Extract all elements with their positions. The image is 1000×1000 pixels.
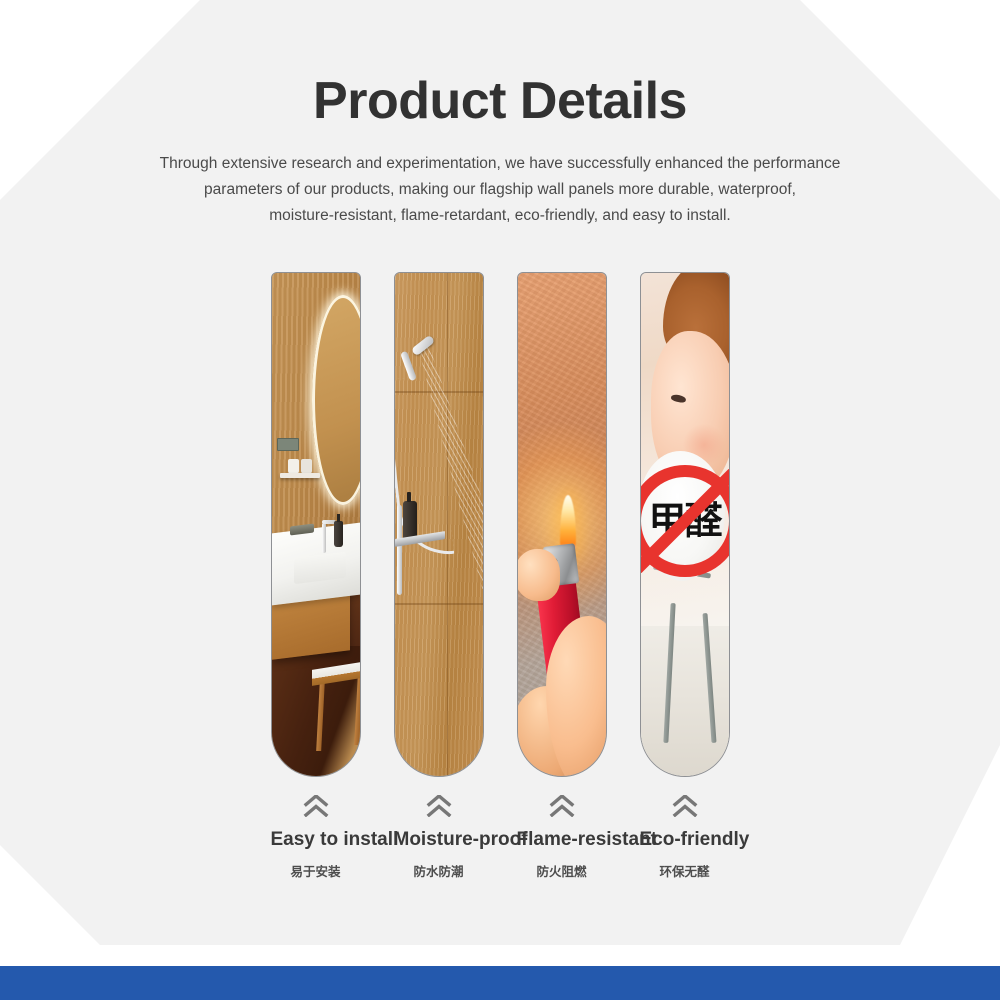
baby-photo: 甲醛	[641, 273, 729, 776]
feature-card-row: Easy to install 易于安装	[0, 272, 1000, 880]
no-formaldehyde-icon: 甲醛	[640, 465, 730, 577]
feature-image-card: 甲醛	[640, 272, 730, 777]
bathroom-vanity-photo	[272, 273, 360, 776]
shower-water-photo	[395, 273, 483, 776]
double-chevron-up-icon	[394, 795, 484, 817]
double-chevron-up-icon	[640, 795, 730, 817]
intro-line-2: parameters of our products, making our f…	[115, 177, 885, 203]
page-title: Product Details	[0, 74, 1000, 129]
intro-paragraph: Through extensive research and experimen…	[115, 151, 885, 229]
feature-label-en: Easy to install	[271, 829, 361, 852]
lighter-flame-photo	[518, 273, 606, 776]
feature-item-flame-resistant[interactable]: Flame-resistant 防火阻燃	[517, 272, 607, 880]
feature-label-en: Flame-resistant	[517, 829, 607, 852]
double-chevron-up-icon	[271, 795, 361, 817]
feature-caption: Easy to install 易于安装	[271, 795, 361, 880]
feature-label-zh: 环保无醛	[640, 861, 730, 880]
feature-caption: Flame-resistant 防火阻燃	[517, 795, 607, 880]
feature-caption: Eco-friendly 环保无醛	[640, 795, 730, 880]
feature-image-card	[271, 272, 361, 777]
double-chevron-up-icon	[517, 795, 607, 817]
feature-label-en: Eco-friendly	[640, 829, 730, 852]
header: Product Details Through extensive resear…	[0, 0, 1000, 229]
feature-image-card	[517, 272, 607, 777]
feature-image-card	[394, 272, 484, 777]
intro-line-1: Through extensive research and experimen…	[115, 151, 885, 177]
feature-label-en: Moisture-proof	[394, 829, 484, 852]
footer-bar	[0, 966, 1000, 1000]
feature-caption: Moisture-proof 防水防潮	[394, 795, 484, 880]
feature-label-zh: 易于安装	[271, 861, 361, 880]
feature-label-zh: 防火阻燃	[517, 861, 607, 880]
feature-item-easy-to-install[interactable]: Easy to install 易于安装	[271, 272, 361, 880]
feature-label-zh: 防水防潮	[394, 861, 484, 880]
intro-line-3: moisture-resistant, flame-retardant, eco…	[115, 203, 885, 229]
feature-item-moisture-proof[interactable]: Moisture-proof 防水防潮	[394, 272, 484, 880]
feature-item-eco-friendly[interactable]: 甲醛 Eco-friendly 环保无醛	[640, 272, 730, 880]
